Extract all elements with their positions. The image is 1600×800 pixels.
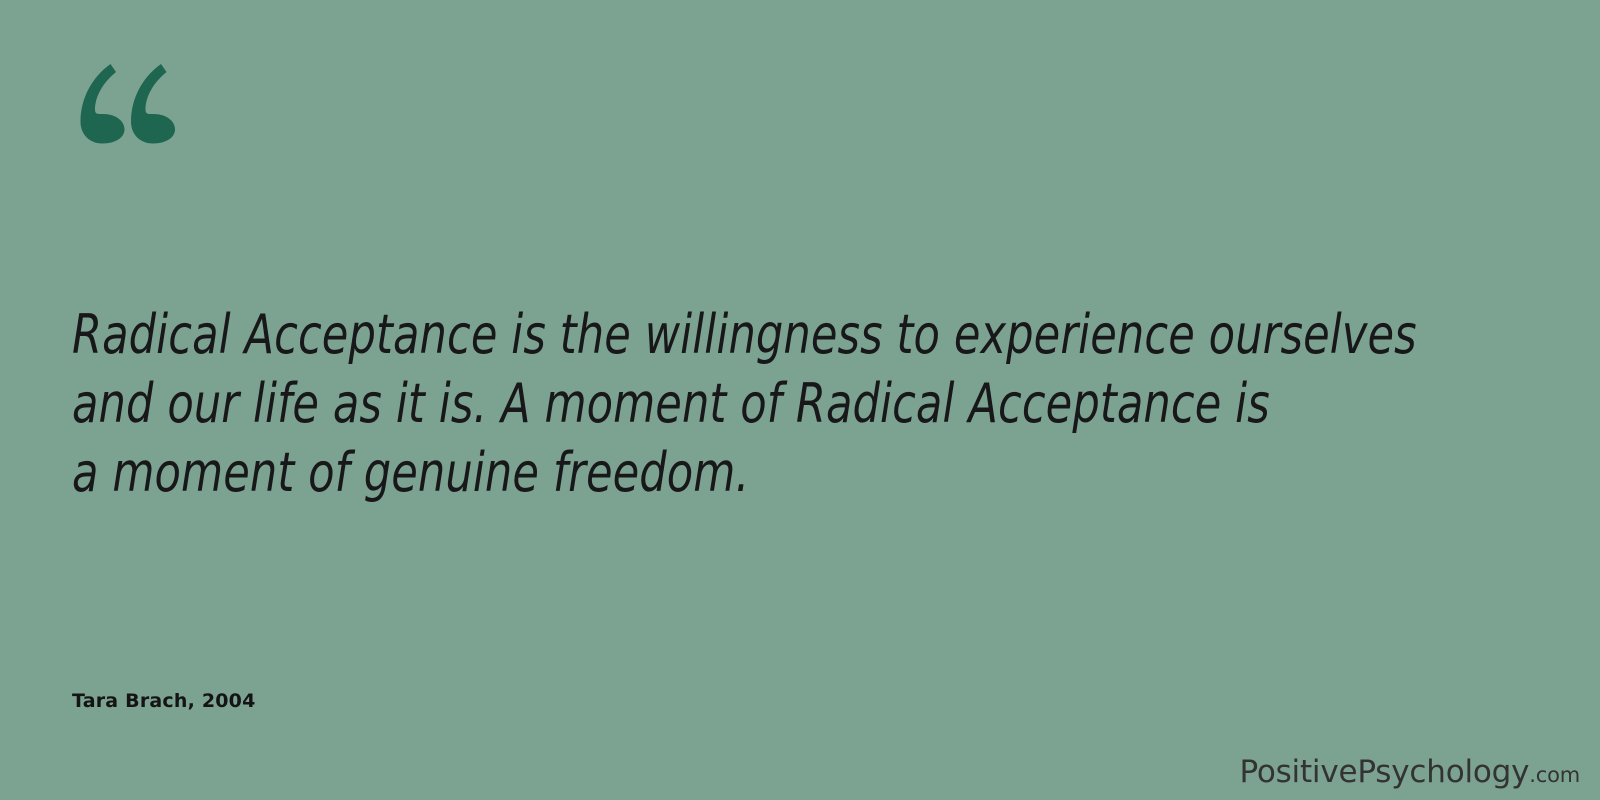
quote-line: Radical Acceptance is the willingness to… <box>72 300 1208 369</box>
double-left-quotation-mark-icon <box>66 52 186 152</box>
quote-card: Radical Acceptance is the willingness to… <box>0 0 1600 800</box>
quote-line: and our life as it is. A moment of Radic… <box>72 369 1208 438</box>
quote-text: Radical Acceptance is the willingness to… <box>72 300 1208 507</box>
quote-attribution: Tara Brach, 2004 <box>72 690 256 712</box>
quote-line: a moment of genuine freedom. <box>72 438 1208 507</box>
watermark-brand: PositivePsychology <box>1239 754 1529 790</box>
site-watermark: PositivePsychology.com <box>1239 757 1580 788</box>
watermark-tld: .com <box>1529 763 1580 787</box>
